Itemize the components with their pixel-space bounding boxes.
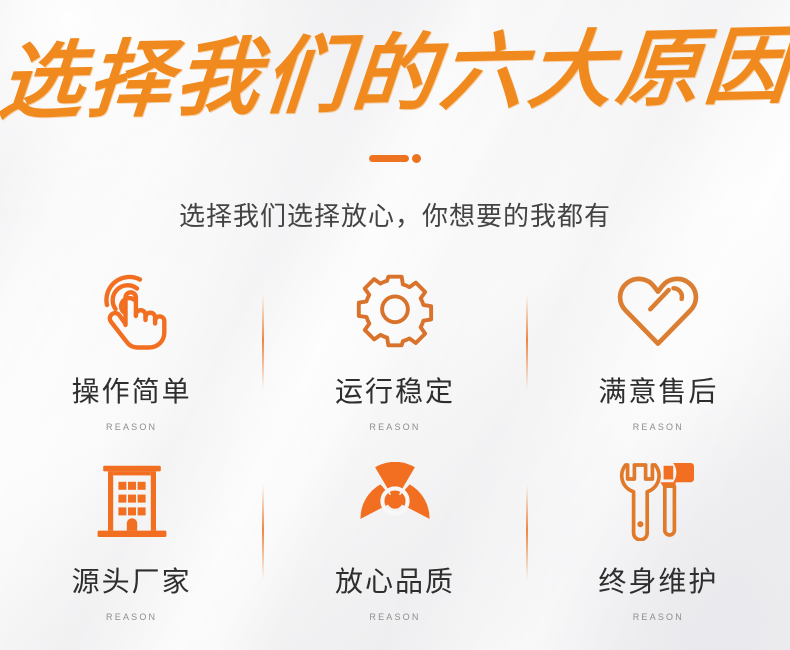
reason-label: 源头厂家	[72, 560, 192, 600]
reason-sublabel: REASON	[106, 422, 157, 432]
reason-sublabel: REASON	[633, 612, 684, 622]
divider-bar-icon	[369, 155, 409, 162]
reason-sublabel: REASON	[106, 612, 157, 622]
page-subtitle: 选择我们选择放心，你想要的我都有	[0, 196, 790, 233]
reason-cell-lifetime-maintenance: 终身维护 REASON	[527, 448, 790, 638]
title-divider	[0, 152, 790, 164]
reason-sublabel: REASON	[369, 422, 420, 432]
tap-hand-icon	[94, 270, 170, 352]
factory-building-icon	[96, 460, 168, 542]
reason-label: 放心品质	[335, 560, 455, 600]
reason-label: 操作简单	[72, 370, 192, 410]
reason-sublabel: REASON	[369, 612, 420, 622]
gear-icon	[356, 270, 434, 352]
reason-cell-operation-simple: 操作简单 REASON	[0, 258, 263, 448]
page-title: 选择我们的六大原因	[0, 34, 790, 118]
page-title-text: 选择我们的六大原因	[0, 26, 790, 127]
wrench-hammer-icon	[614, 460, 702, 542]
reason-cell-source-factory: 源头厂家 REASON	[0, 448, 263, 638]
reason-cell-after-sales: 满意售后 REASON	[527, 258, 790, 448]
reasons-grid: 操作简单 REASON 运行稳定 REASON	[0, 258, 790, 638]
reason-label: 运行稳定	[335, 370, 455, 410]
reason-cell-quality: 放心品质 REASON	[263, 448, 526, 638]
heart-icon	[615, 270, 701, 352]
reason-cell-stable-operation: 运行稳定 REASON	[263, 258, 526, 448]
radiation-trefoil-icon	[354, 460, 436, 542]
reason-label: 终身维护	[598, 560, 718, 600]
reason-label: 满意售后	[598, 370, 718, 410]
divider-dot-icon	[412, 154, 421, 163]
promo-banner: 选择我们的六大原因 选择我们选择放心，你想要的我都有	[0, 0, 790, 650]
reason-sublabel: REASON	[633, 422, 684, 432]
